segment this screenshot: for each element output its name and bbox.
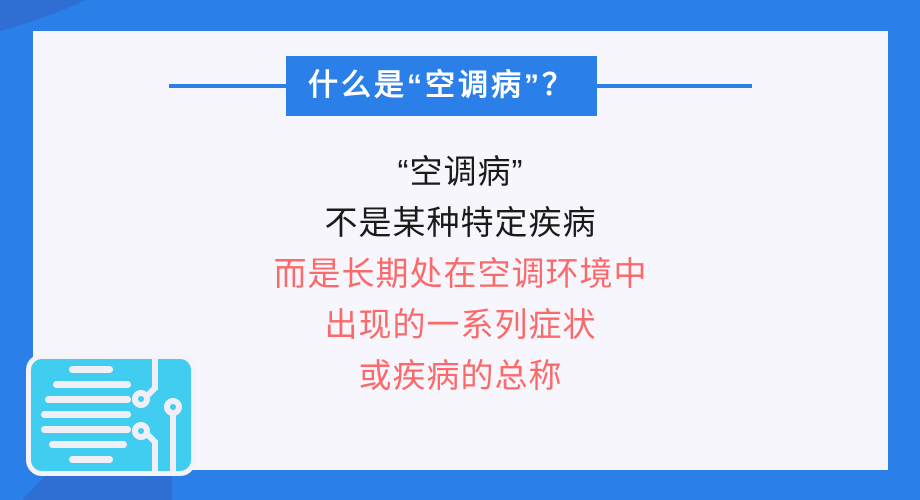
title-box: 什么是“空调病”？ [286, 56, 597, 116]
title-rule-right [597, 84, 752, 88]
document-circuit-icon [26, 354, 196, 476]
body-line-2: 不是某种特定疾病 [33, 197, 888, 248]
title-rule-left [169, 84, 286, 88]
title-banner: 什么是“空调病”？ [33, 56, 888, 116]
body-line-1: “空调病” [33, 146, 888, 197]
corner-decoration-arc-inner [0, 0, 170, 30]
page-title: 什么是“空调病”？ [308, 71, 575, 101]
body-line-3: 而是长期处在空调环境中 [33, 248, 888, 299]
slide-canvas: 什么是“空调病”？ “空调病” 不是某种特定疾病 而是长期处在空调环境中 出现的… [0, 0, 920, 500]
decorative-icon-area [12, 340, 212, 500]
